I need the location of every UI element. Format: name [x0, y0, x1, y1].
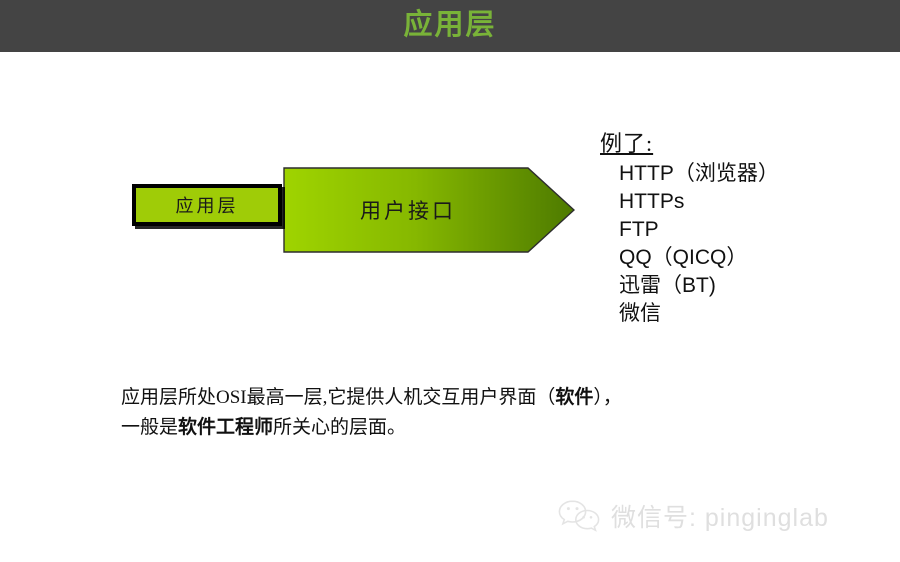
- examples-list: HTTP（浏览器） HTTPs FTP QQ（QICQ） 迅雷（BT) 微信: [600, 160, 880, 328]
- examples-section: 例了: HTTP（浏览器） HTTPs FTP QQ（QICQ） 迅雷（BT) …: [600, 126, 880, 328]
- list-item: 迅雷（BT): [619, 272, 880, 300]
- list-item: HTTPs: [619, 188, 880, 216]
- header-bar: 应用层: [0, 0, 900, 52]
- list-item: FTP: [619, 216, 880, 244]
- description-line-1-bold: 软件: [555, 387, 593, 408]
- page-title: 应用层: [0, 0, 900, 52]
- list-item: QQ（QICQ）: [619, 244, 880, 272]
- application-layer-box[interactable]: 应用层: [132, 184, 282, 226]
- description-line-1-part-b: ），: [593, 387, 622, 408]
- description-line-2-bold: 软件工程师: [178, 417, 273, 438]
- list-item: 微信: [619, 300, 880, 328]
- arrow-diagram-group: 用户接口 应用层: [128, 160, 588, 260]
- description-text: 应用层所处OSI最高一层,它提供人机交互用户界面（软件）， 一般是软件工程师所关…: [121, 383, 821, 443]
- description-line-2-part-b: 所关心的层面。: [273, 417, 406, 438]
- watermark-text: 微信号: pinginglab: [611, 498, 829, 534]
- list-item: HTTP（浏览器）: [619, 160, 880, 188]
- examples-heading: 例了:: [600, 126, 880, 158]
- description-line-2: 一般是软件工程师所关心的层面。: [121, 413, 821, 443]
- description-line-1-part-a: 应用层所处OSI最高一层,它提供人机交互用户界面（: [121, 387, 555, 408]
- watermark: 微信号: pinginglab: [556, 494, 829, 538]
- user-interface-arrow[interactable]: [283, 167, 575, 253]
- application-layer-box-label: 应用层: [176, 192, 239, 218]
- wechat-icon: [556, 498, 602, 534]
- description-line-2-part-a: 一般是: [121, 417, 178, 438]
- description-line-1: 应用层所处OSI最高一层,它提供人机交互用户界面（软件），: [121, 383, 821, 413]
